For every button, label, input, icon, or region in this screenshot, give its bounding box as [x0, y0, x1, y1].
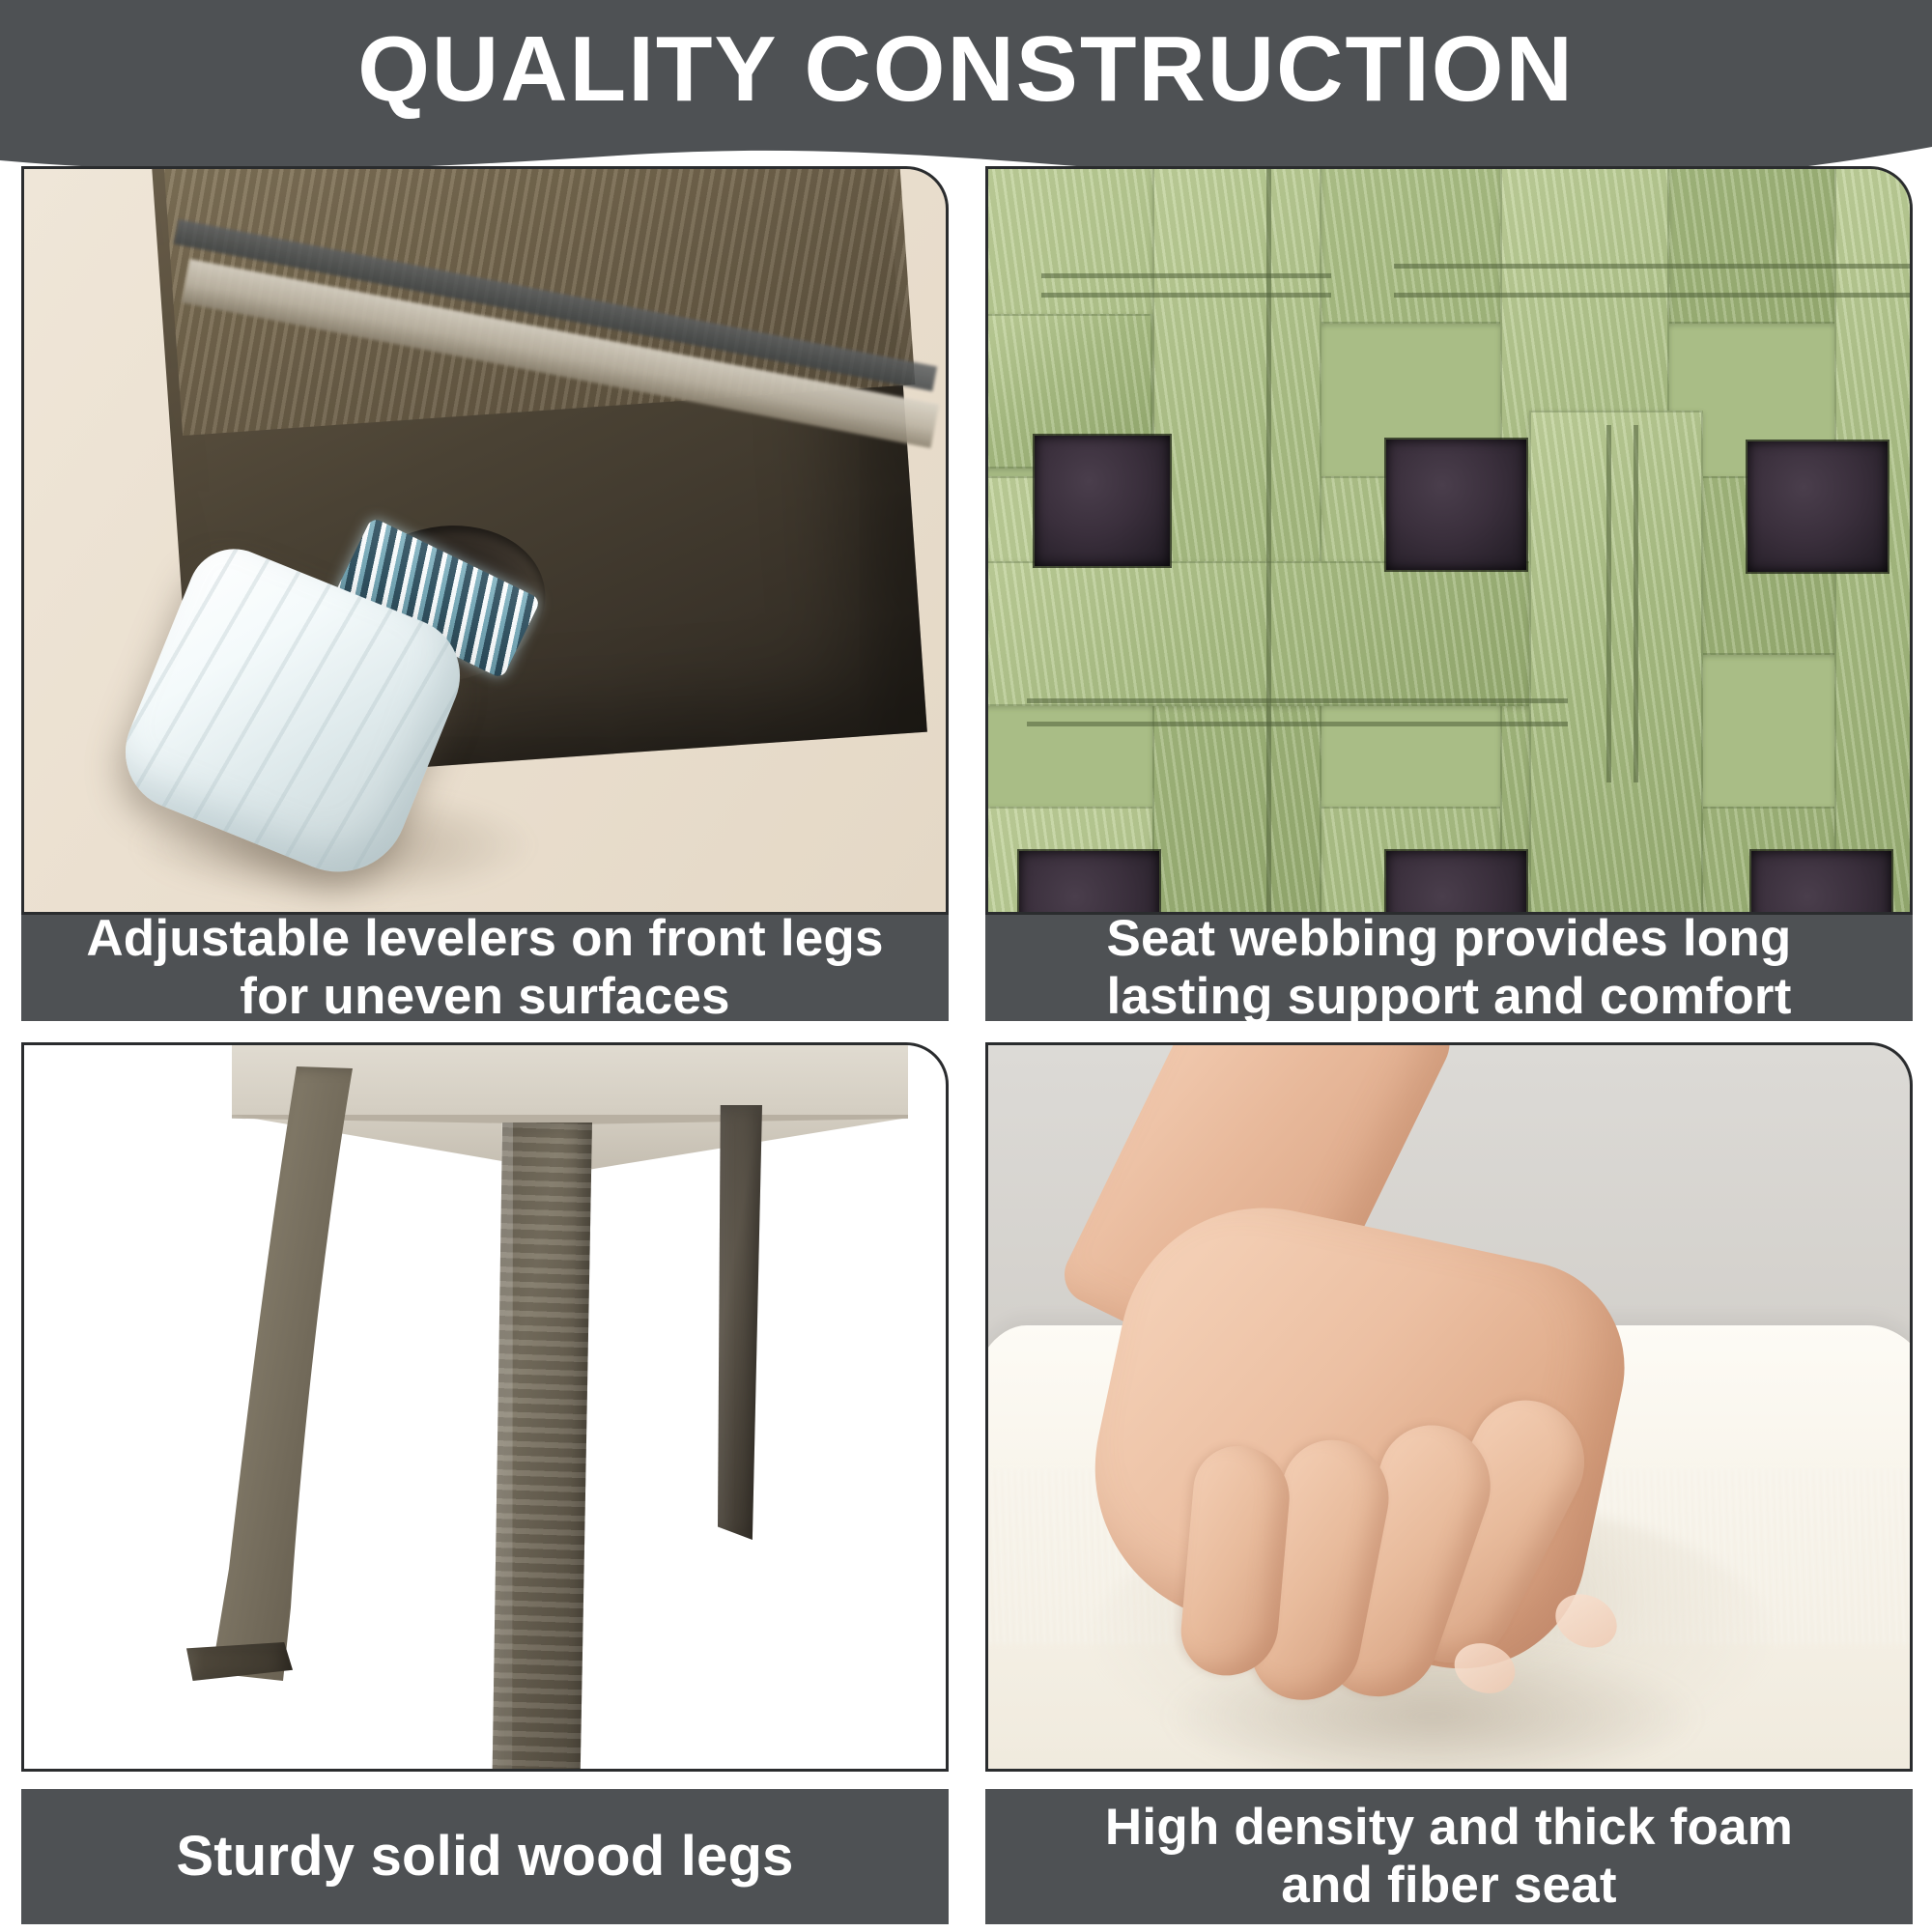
webbing-gap — [1747, 441, 1888, 572]
caption-line-1: High density and thick foam — [1105, 1799, 1793, 1856]
feature-card-seat-webbing: Seat webbing provides long lasting suppo… — [985, 166, 1913, 1021]
foam-fiber-seat-photo — [985, 1042, 1913, 1772]
pressing-hand — [1017, 1042, 1780, 1770]
webbing-seam — [1027, 698, 1568, 703]
caption-line-2: for uneven surfaces — [240, 968, 729, 1021]
wood-leg-center-edge-highlight — [488, 1122, 513, 1772]
webbing-gap — [1386, 851, 1526, 915]
caption-line-1: Adjustable levelers on front legs — [86, 910, 883, 967]
webbing-seam — [1041, 293, 1331, 298]
webbing-strap-vertical — [1152, 166, 1321, 915]
adjustable-leveler-photo — [21, 166, 949, 915]
solid-wood-legs-photo — [21, 1042, 949, 1772]
webbing-seam — [1027, 722, 1568, 726]
caption-line-1: Seat webbing provides long — [1106, 910, 1791, 967]
feature-card-wood-legs: Sturdy solid wood legs — [21, 1042, 949, 1924]
caption-wood-legs: Sturdy solid wood legs — [21, 1789, 949, 1924]
feature-grid: Adjustable levelers on front legs for un… — [21, 166, 1913, 1924]
webbing-seam — [1041, 273, 1331, 278]
webbing-seam — [1394, 293, 1913, 298]
webbing-seam — [1266, 166, 1271, 915]
webbing-gap — [1035, 436, 1170, 566]
webbing-strap-horizontal — [985, 166, 1913, 324]
wood-leg-back-right — [718, 1105, 762, 1540]
feature-card-foam-seat: High density and thick foam and fiber se… — [985, 1042, 1913, 1924]
webbing-gap — [1751, 851, 1891, 915]
caption-line-2: lasting support and comfort — [1106, 968, 1791, 1021]
webbing-seam — [1634, 425, 1638, 782]
webbing-strap-vertical-overlap — [1529, 411, 1703, 915]
feature-card-adjustable-levelers: Adjustable levelers on front legs for un… — [21, 166, 949, 1021]
caption-line-1: Sturdy solid wood legs — [176, 1825, 793, 1889]
webbing-strap-horizontal-overlap — [985, 561, 1539, 706]
seat-webbing-photo — [985, 166, 1913, 915]
webbing-gap — [1386, 440, 1526, 570]
webbing-seam — [1394, 264, 1913, 269]
wood-leg-left-curved — [208, 1066, 401, 1704]
page-title: QUALITY CONSTRUCTION — [0, 21, 1932, 119]
webbing-gap — [1019, 851, 1159, 915]
webbing-seam — [1606, 425, 1611, 782]
caption-adjustable-levelers: Adjustable levelers on front legs for un… — [21, 915, 949, 1021]
caption-foam-seat: High density and thick foam and fiber se… — [985, 1789, 1913, 1924]
caption-seat-webbing: Seat webbing provides long lasting suppo… — [985, 915, 1913, 1021]
caption-line-2: and fiber seat — [1281, 1857, 1616, 1914]
